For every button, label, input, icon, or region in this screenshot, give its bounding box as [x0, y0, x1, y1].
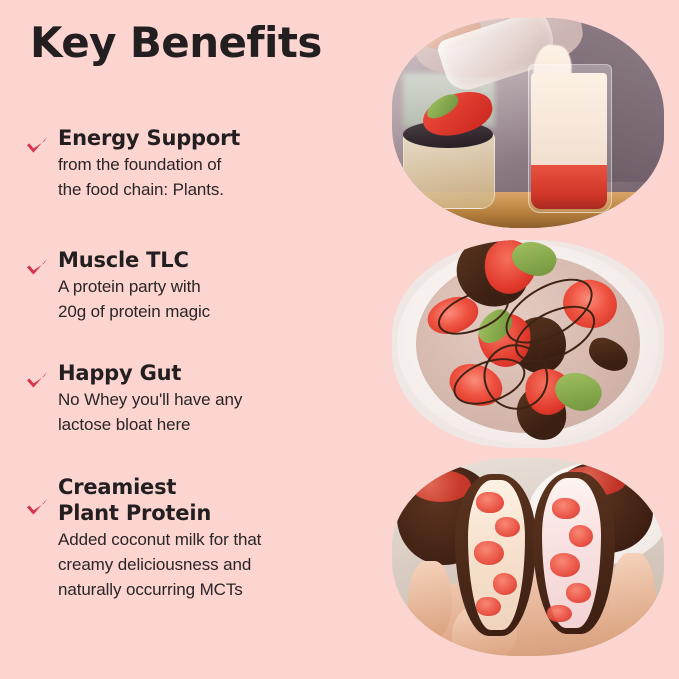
- benefit-description-line: Added coconut milk for that: [58, 527, 368, 552]
- strawberry-piece: [476, 597, 500, 617]
- photo-scene: [392, 458, 664, 656]
- photo-pouring-smoothie: [392, 18, 664, 228]
- freeze-dried-strawberry-topping: [411, 470, 471, 502]
- strawberry-piece: [569, 525, 593, 547]
- benefit-title: Happy Gut: [58, 360, 368, 386]
- benefit-title: Creamiest: [58, 474, 368, 500]
- creamy-smoothie: [531, 73, 607, 174]
- page-title: Key Benefits: [30, 18, 322, 68]
- strawberry-piece: [474, 541, 504, 565]
- check-icon: [24, 495, 50, 521]
- photo-smoothie-bowl: [392, 240, 664, 448]
- strawberry-compote-layer: [531, 165, 607, 209]
- strawberry-piece: [476, 492, 503, 514]
- benefit-body: Muscle TLC A protein party with 20g of p…: [58, 247, 368, 324]
- benefit-item: Muscle TLC A protein party with 20g of p…: [24, 247, 368, 324]
- benefit-title: Energy Support: [58, 125, 368, 151]
- benefit-description: A protein party with 20g of protein magi…: [58, 274, 368, 324]
- benefit-description-line: A protein party with: [58, 274, 368, 299]
- benefit-item: Creamiest Plant Protein Added coconut mi…: [24, 474, 368, 602]
- strawberry-piece: [493, 573, 517, 595]
- strawberry-piece: [547, 605, 571, 623]
- benefit-title: Plant Protein: [58, 500, 368, 526]
- key-benefits-infographic: Key Benefits Energy Support from the fou…: [0, 0, 679, 679]
- check-icon: [24, 255, 50, 281]
- benefit-description-line: creamy deliciousness and: [58, 552, 368, 577]
- benefit-body: Happy Gut No Whey you'll have any lactos…: [58, 360, 368, 437]
- benefit-description-line: from the foundation of: [58, 152, 368, 177]
- photo-scene: [392, 240, 664, 448]
- benefit-description-line: 20g of protein magic: [58, 299, 368, 324]
- finger: [610, 553, 656, 640]
- strawberry-piece: [566, 583, 590, 603]
- benefit-title: Muscle TLC: [58, 247, 368, 273]
- benefit-description-line: lactose bloat here: [58, 412, 368, 437]
- photo-scene: [392, 18, 664, 228]
- photo-chocolate-strawberry-halves: [392, 458, 664, 656]
- benefit-description-line: naturally occurring MCTs: [58, 577, 368, 602]
- benefit-item: Energy Support from the foundation of th…: [24, 125, 368, 202]
- benefit-description: Added coconut milk for that creamy delic…: [58, 527, 368, 602]
- benefit-description: from the foundation of the food chain: P…: [58, 152, 368, 202]
- benefit-description-line: the food chain: Plants.: [58, 177, 368, 202]
- strawberry-piece: [552, 498, 579, 520]
- strawberry-piece: [495, 517, 519, 537]
- strawberry-piece: [550, 553, 580, 577]
- benefits-text-column: Key Benefits Energy Support from the fou…: [0, 0, 372, 679]
- benefit-description: No Whey you'll have any lactose bloat he…: [58, 387, 368, 437]
- benefit-body: Energy Support from the foundation of th…: [58, 125, 368, 202]
- benefit-body: Creamiest Plant Protein Added coconut mi…: [58, 474, 368, 602]
- check-icon: [24, 133, 50, 159]
- check-icon: [24, 368, 50, 394]
- finger: [408, 561, 452, 640]
- benefit-description-line: No Whey you'll have any: [58, 387, 368, 412]
- benefit-item: Happy Gut No Whey you'll have any lactos…: [24, 360, 368, 437]
